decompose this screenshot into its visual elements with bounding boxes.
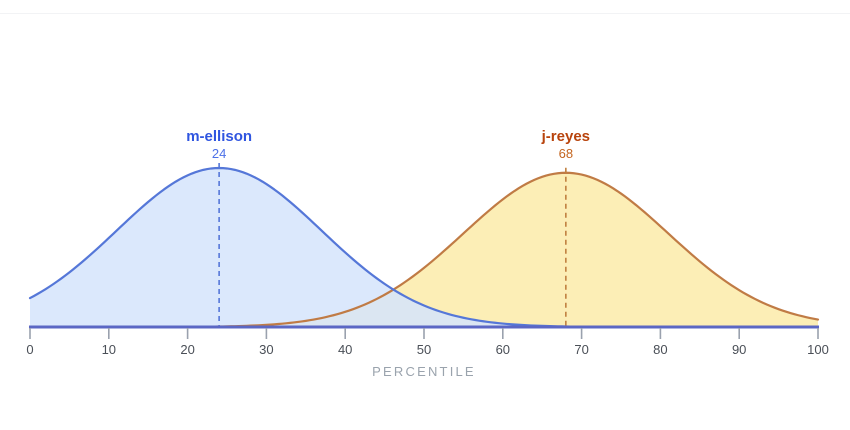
x-axis-ticks — [30, 328, 818, 339]
series-value-m-ellison: 24 — [212, 146, 226, 161]
series-label-j-reyes: j-reyes — [541, 128, 590, 145]
x-axis-tick-label: 0 — [26, 342, 33, 357]
x-axis-tick-label: 50 — [417, 342, 431, 357]
series-label-m-ellison: m-ellison — [186, 128, 252, 145]
x-axis-tick-label: 80 — [653, 342, 667, 357]
x-axis-tick-label: 30 — [259, 342, 273, 357]
annotation-m-ellison: m-ellison 24 — [186, 128, 252, 161]
x-axis-tick-label: 100 — [807, 342, 829, 357]
x-axis-tick-label: 10 — [102, 342, 116, 357]
x-axis-tick-label: 60 — [496, 342, 510, 357]
distribution-chart: 0102030405060708090100 PERCENTILE m-elli… — [0, 0, 850, 430]
annotation-j-reyes: j-reyes 68 — [541, 128, 590, 161]
x-axis-tick-labels: 0102030405060708090100 — [26, 342, 828, 357]
x-axis-tick-label: 20 — [180, 342, 194, 357]
x-axis-tick-label: 40 — [338, 342, 352, 357]
chart-canvas: 0102030405060708090100 PERCENTILE m-elli… — [0, 0, 850, 430]
series-value-j-reyes: 68 — [559, 146, 573, 161]
x-axis-title: PERCENTILE — [372, 364, 476, 379]
x-axis-tick-label: 90 — [732, 342, 746, 357]
x-axis-tick-label: 70 — [574, 342, 588, 357]
